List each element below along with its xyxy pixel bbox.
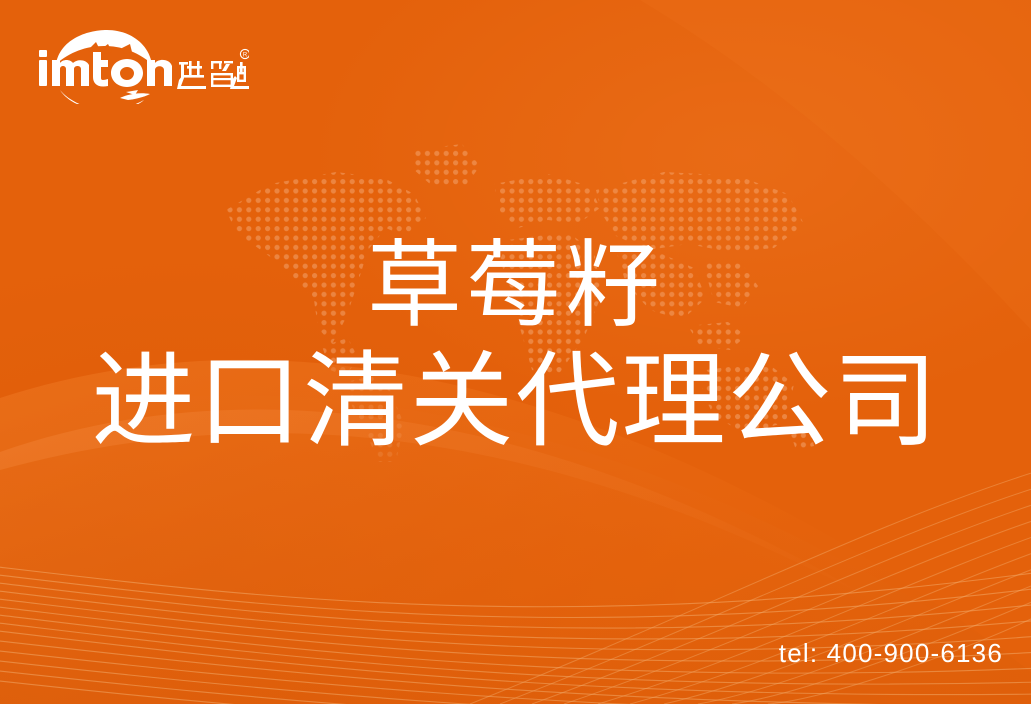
contact-phone[interactable]: tel: 400-900-6136 — [779, 638, 1003, 669]
promo-banner: R 草莓籽 进口清关代理公司 tel: 400-900-6136 — [0, 0, 1031, 704]
globe-arc-icon — [56, 30, 152, 64]
logo-wordmark-chinese — [177, 61, 249, 89]
registered-mark-icon: R — [240, 49, 249, 58]
svg-text:R: R — [243, 53, 248, 59]
company-logo[interactable]: R — [34, 28, 249, 104]
swoosh-plane-icon — [60, 90, 150, 104]
headline-line-2: 进口清关代理公司 — [0, 342, 1031, 462]
headline-line-1: 草莓籽 — [0, 230, 1031, 342]
headline-block: 草莓籽 进口清关代理公司 — [0, 230, 1031, 462]
